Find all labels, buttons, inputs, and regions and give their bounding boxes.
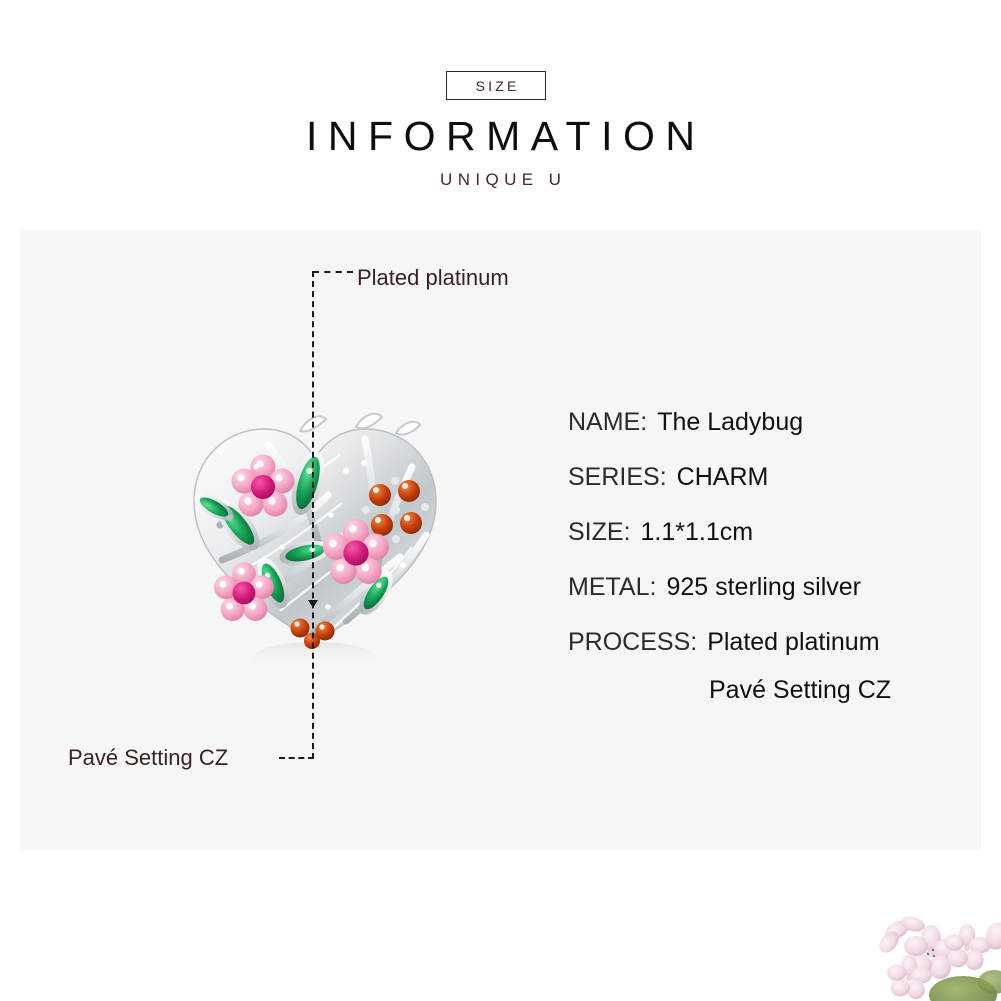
cherry-blossom-icon	[851, 896, 1001, 1001]
spec-label-process: PROCESS:	[568, 628, 697, 657]
spec-row-series: SERIES: CHARM	[568, 463, 968, 518]
spec-value-process: Plated platinum	[707, 628, 879, 657]
size-badge: SIZE	[446, 71, 546, 100]
callout-bottom-leader-line	[279, 757, 314, 759]
spec-value-process-line2: Pavé Setting CZ	[709, 676, 968, 705]
charm-illustration	[160, 375, 470, 685]
corner-floral-decoration	[851, 896, 1001, 1001]
spec-row-metal: METAL: 925 sterling silver	[568, 573, 968, 628]
size-badge-label: SIZE	[472, 78, 519, 94]
spec-row-size: SIZE: 1.1*1.1cm	[568, 518, 968, 573]
spec-label-metal: METAL:	[568, 573, 656, 602]
callout-top-leader-line	[313, 271, 353, 273]
specification-list: NAME: The Ladybug SERIES: CHARM SIZE: 1.…	[568, 408, 968, 705]
product-image-charm	[160, 375, 470, 685]
spec-label-size: SIZE:	[568, 518, 631, 547]
spec-value-size: 1.1*1.1cm	[641, 518, 754, 547]
spec-row-process: PROCESS: Plated platinum	[568, 628, 968, 676]
page-title: INFORMATION	[0, 113, 1001, 160]
spec-label-series: SERIES:	[568, 463, 667, 492]
spec-value-name: The Ladybug	[657, 408, 803, 437]
page-subtitle: UNIQUE U	[0, 170, 1001, 190]
spec-value-metal: 925 sterling silver	[666, 573, 861, 602]
callout-vertical-leader-line	[312, 271, 314, 759]
callout-label-plated-platinum: Plated platinum	[357, 265, 509, 291]
spec-value-series: CHARM	[677, 463, 769, 492]
page-header: SIZE INFORMATION UNIQUE U	[0, 0, 1001, 230]
spec-label-name: NAME:	[568, 408, 647, 437]
spec-row-name: NAME: The Ladybug	[568, 408, 968, 463]
callout-arrow-icon	[308, 600, 318, 608]
callout-label-pave-setting-cz: Pavé Setting CZ	[68, 745, 228, 771]
